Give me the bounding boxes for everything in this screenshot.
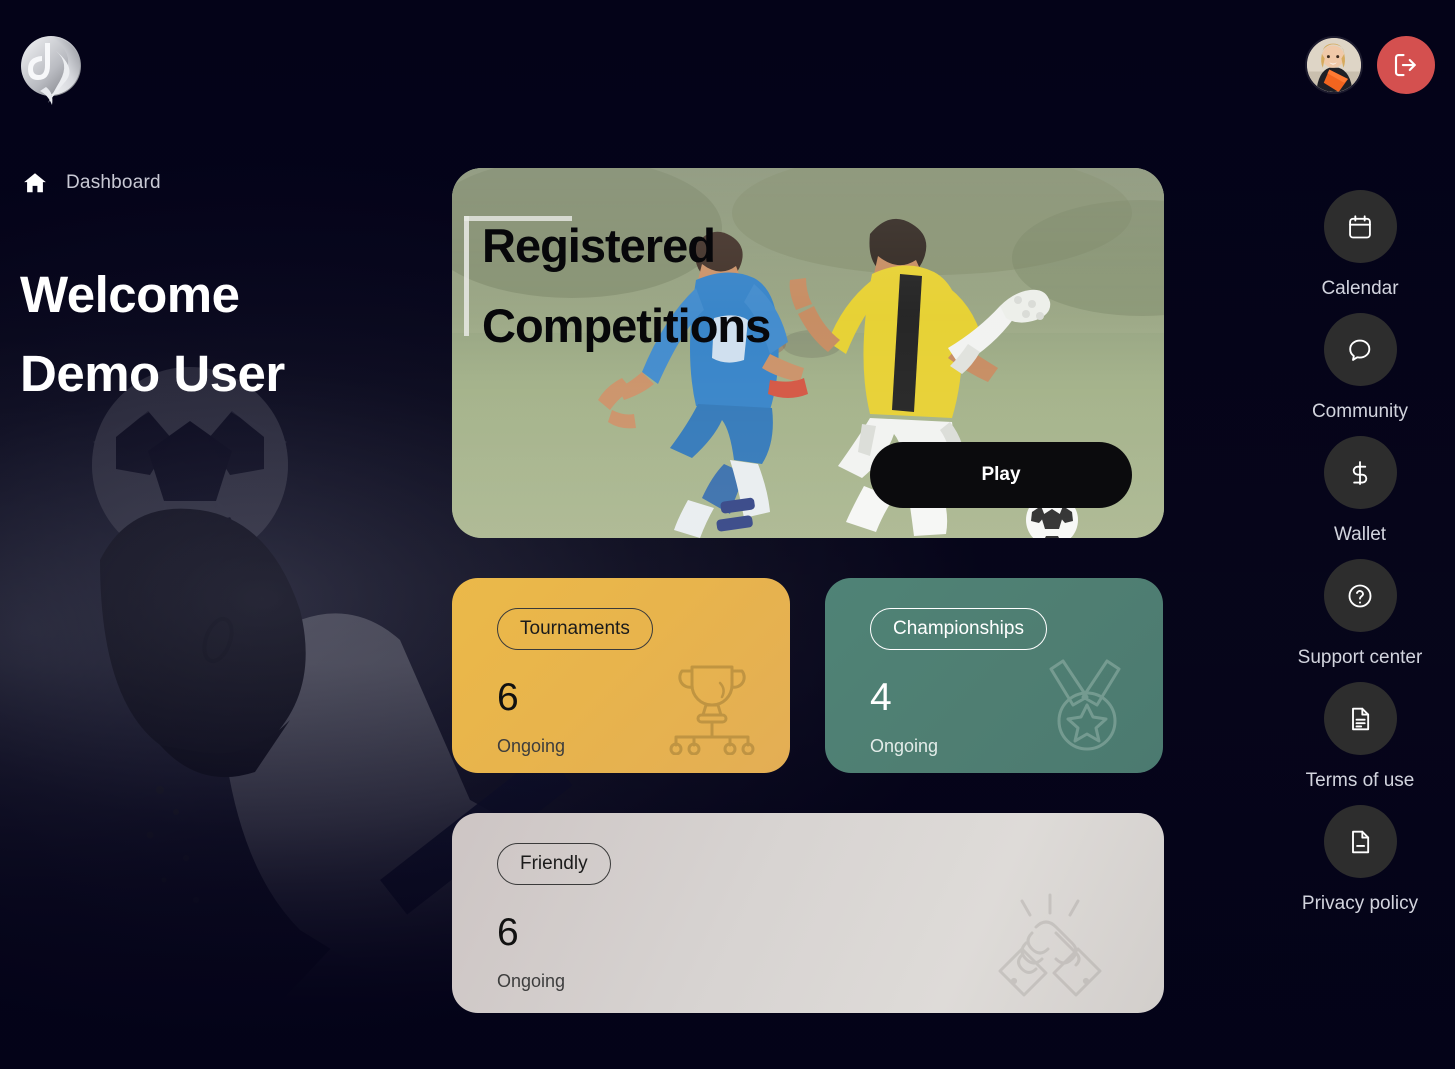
stat-label-friendly: Friendly <box>497 843 611 885</box>
sidebar-label-terms: Terms of use <box>1306 770 1415 792</box>
play-button[interactable]: Play <box>870 442 1132 508</box>
dollar-icon <box>1324 436 1397 509</box>
sidebar-item-calendar[interactable]: Calendar <box>1265 190 1455 300</box>
document-lines-icon <box>1324 682 1397 755</box>
logout-button[interactable] <box>1377 36 1435 94</box>
sidebar-item-community[interactable]: Community <box>1265 313 1455 423</box>
breadcrumb[interactable]: Dashboard <box>22 170 161 196</box>
brand-logo[interactable] <box>20 35 82 105</box>
stat-count-friendly: 6 <box>497 912 1164 954</box>
stat-card-tournaments[interactable]: Tournaments 6 Ongoing <box>452 578 790 773</box>
sidebar-label-wallet: Wallet <box>1334 524 1386 546</box>
stat-status-championships: Ongoing <box>870 736 1163 757</box>
stat-card-friendly[interactable]: Friendly 6 Ongoing <box>452 813 1164 1013</box>
hero-title-line-2: Competitions <box>482 286 770 366</box>
avatar[interactable] <box>1305 36 1363 94</box>
welcome-line-2: Demo User <box>20 334 285 413</box>
welcome-line-1: Welcome <box>20 255 285 334</box>
stat-label-tournaments: Tournaments <box>497 608 653 650</box>
stat-status-tournaments: Ongoing <box>497 736 790 757</box>
stat-label-championships: Championships <box>870 608 1047 650</box>
stat-count-championships: 4 <box>870 677 1163 719</box>
sidebar-label-community: Community <box>1312 401 1408 423</box>
chat-bubble-icon <box>1324 313 1397 386</box>
main-content: Registered Competitions 5 Ongoing Play T… <box>452 168 1164 1013</box>
logout-arrow-icon <box>1391 50 1421 80</box>
dashboard-page: Dashboard Welcome Demo User <box>0 0 1455 1069</box>
welcome-heading: Welcome Demo User <box>20 255 285 413</box>
friendly-row: Friendly 6 Ongoing <box>452 813 1164 1013</box>
calendar-icon <box>1324 190 1397 263</box>
sidebar-item-privacy[interactable]: Privacy policy <box>1265 805 1455 915</box>
hero-title: Registered Competitions <box>482 206 770 366</box>
top-bar <box>0 0 1455 140</box>
right-sidebar: Calendar Community Wallet <box>1265 190 1455 915</box>
stat-count-tournaments: 6 <box>497 677 790 719</box>
sidebar-label-privacy: Privacy policy <box>1302 893 1418 915</box>
home-icon <box>22 170 48 196</box>
question-circle-icon <box>1324 559 1397 632</box>
stat-card-championships[interactable]: Championships 4 Ongoing <box>825 578 1163 773</box>
document-minus-icon <box>1324 805 1397 878</box>
sidebar-item-support[interactable]: Support center <box>1265 559 1455 669</box>
stat-card-row: Tournaments 6 Ongoing <box>452 578 1164 773</box>
sidebar-label-support: Support center <box>1298 647 1423 669</box>
stat-status-friendly: Ongoing <box>497 971 1164 992</box>
registered-competitions-card[interactable]: Registered Competitions 5 Ongoing Play <box>452 168 1164 538</box>
breadcrumb-label: Dashboard <box>66 172 161 194</box>
top-bar-actions <box>1305 36 1435 94</box>
sidebar-item-terms[interactable]: Terms of use <box>1265 682 1455 792</box>
sidebar-item-wallet[interactable]: Wallet <box>1265 436 1455 546</box>
hero-title-line-1: Registered <box>482 206 770 286</box>
sidebar-label-calendar: Calendar <box>1321 278 1398 300</box>
